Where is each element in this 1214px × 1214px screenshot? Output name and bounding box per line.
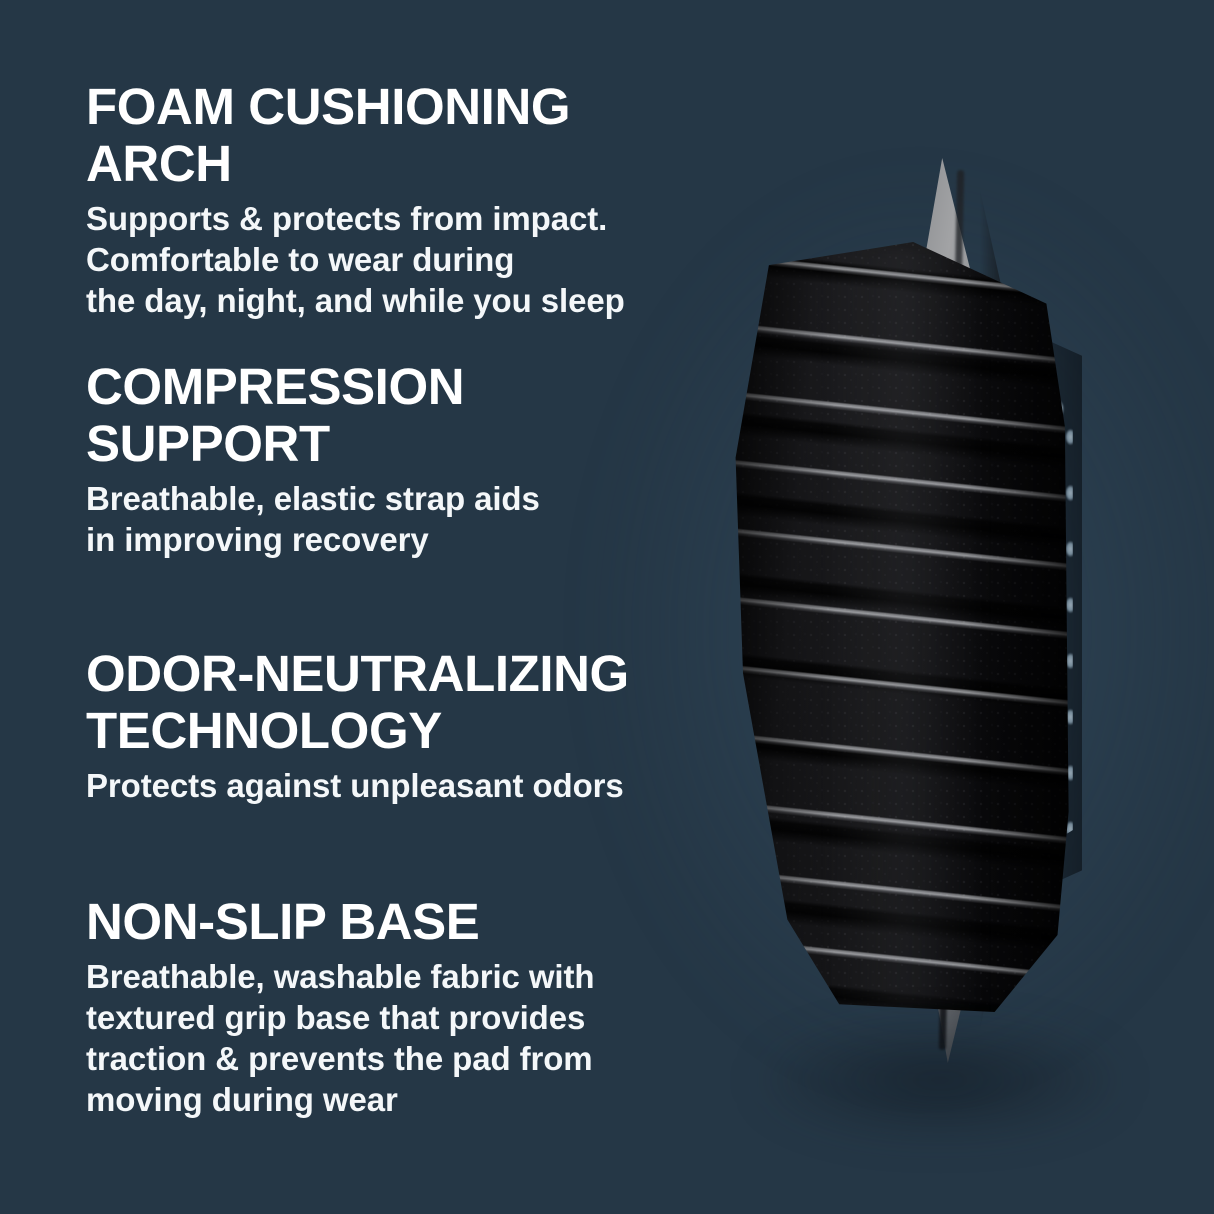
feature-title: FOAM CUSHIONING ARCH — [86, 78, 726, 192]
strap-sheen — [826, 242, 986, 1012]
feature-block-foam-cushioning-arch: FOAM CUSHIONING ARCH Supports & protects… — [86, 78, 726, 321]
feature-description: Supports & protects from impact. Comfort… — [86, 198, 726, 321]
feature-title: COMPRESSION SUPPORT — [86, 358, 726, 472]
feature-description: Breathable, washable fabric with texture… — [86, 956, 726, 1120]
feature-description: Breathable, elastic strap aids in improv… — [86, 478, 726, 560]
infographic-page: FOAM CUSHIONING ARCH Supports & protects… — [0, 0, 1214, 1214]
feature-title: NON-SLIP BASE — [86, 893, 726, 950]
elastic-compression-strap — [706, 242, 1076, 1012]
strap-left-shading — [706, 242, 836, 1012]
feature-block-non-slip-base: NON-SLIP BASE Breathable, washable fabri… — [86, 893, 726, 1120]
feature-description: Protects against unpleasant odors — [86, 765, 726, 806]
feature-list: FOAM CUSHIONING ARCH Supports & protects… — [86, 0, 726, 1214]
feature-title: ODOR-NEUTRALIZING TECHNOLOGY — [86, 645, 726, 759]
feature-block-compression-support: COMPRESSION SUPPORT Breathable, elastic … — [86, 358, 726, 560]
product-image — [690, 150, 1140, 1080]
feature-block-odor-neutralizing-technology: ODOR-NEUTRALIZING TECHNOLOGY Protects ag… — [86, 645, 726, 806]
